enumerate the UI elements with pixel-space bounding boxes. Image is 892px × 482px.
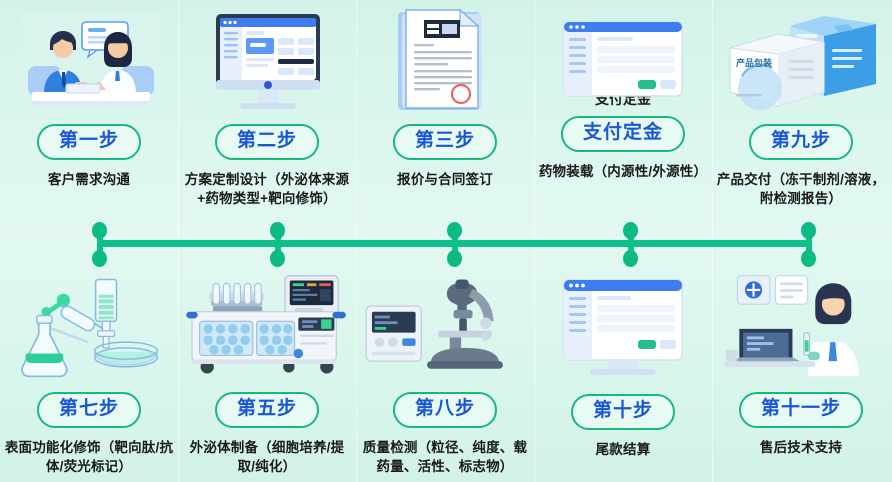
step-description: 方案定制设计（外泌体来源+药物类型+靶向修饰） [181, 170, 353, 208]
bioreactor-instrument-illustration [178, 270, 356, 388]
timeline-stem [275, 232, 281, 258]
timeline-node-bottom-5[interactable] [801, 250, 816, 267]
top-step-3[interactable]: 第三步 报价与合同签订 [356, 4, 534, 189]
timeline-stem [806, 232, 812, 258]
step-description: 尾款结算 [537, 440, 709, 459]
top-step-4[interactable]: 支付定金 支付定金 药物装载（内源性/外源性） [534, 4, 712, 181]
timeline-node-bottom-3[interactable] [447, 250, 462, 267]
scientist-support-illustration [712, 270, 890, 388]
step-badge[interactable]: 第三步 [393, 124, 497, 160]
step-description: 报价与合同签订 [359, 170, 531, 189]
step-description: 质量检测（粒径、纯度、载药量、活性、标志物） [359, 438, 531, 476]
step-badge[interactable]: 第八步 [393, 392, 497, 428]
flask-distillation-illustration [0, 270, 178, 388]
step-badge[interactable]: 第七步 [37, 392, 141, 428]
timeline-node-top-4[interactable] [623, 222, 638, 239]
top-step-5[interactable]: 产品包装 第九步 产品交付（冻干制剂/溶液，附检测报告） [712, 4, 890, 208]
browser-form-illustration [534, 4, 712, 86]
microscope-illustration [356, 270, 534, 388]
timeline-stem [97, 232, 103, 258]
step-description: 药物装载（内源性/外源性） [537, 162, 709, 181]
step-badge[interactable]: 第二步 [215, 124, 319, 160]
svg-text:产品包装: 产品包装 [736, 57, 773, 68]
product-packaging-illustration: 产品包装 [712, 4, 890, 116]
step-badge[interactable]: 第九步 [749, 124, 853, 160]
timeline-node-bottom-2[interactable] [270, 250, 285, 267]
step-badge[interactable]: 支付定金 [561, 116, 685, 152]
timeline-node-bottom-4[interactable] [623, 250, 638, 267]
step-description: 表面功能化修饰（靶向肽/抗体/荧光标记） [3, 438, 175, 476]
top-step-1[interactable]: 第一步 客户需求沟通 [0, 4, 178, 189]
bottom-step-3[interactable]: 第八步 质量检测（粒径、纯度、载药量、活性、标志物） [356, 270, 534, 476]
bottom-step-2[interactable]: 第五步 外泌体制备（细胞培养/提取/纯化） [178, 270, 356, 476]
timeline-node-top-3[interactable] [447, 222, 462, 239]
browser-billing-illustration [534, 272, 712, 384]
desktop-dashboard-illustration [178, 4, 356, 116]
step-badge[interactable]: 第一步 [37, 124, 141, 160]
step-badge[interactable]: 第五步 [215, 392, 319, 428]
timeline-node-top-5[interactable] [801, 222, 816, 239]
timeline-node-top-2[interactable] [270, 222, 285, 239]
step-description: 外泌体制备（细胞培养/提取/纯化） [181, 438, 353, 476]
step-description: 售后技术支持 [715, 438, 887, 457]
timeline-node-top-1[interactable] [92, 222, 107, 239]
timeline-node-bottom-1[interactable] [92, 250, 107, 267]
contract-document-illustration [356, 4, 534, 116]
step-description: 客户需求沟通 [3, 170, 175, 189]
bottom-step-1[interactable]: 第七步 表面功能化修饰（靶向肽/抗体/荧光标记） [0, 270, 178, 476]
timeline-stem [452, 232, 458, 258]
bottom-step-5[interactable]: 第十一步 售后技术支持 [712, 270, 890, 457]
step-badge[interactable]: 第十步 [571, 394, 675, 430]
infographic-canvas: 第一步 客户需求沟通 [0, 0, 892, 482]
step-description: 产品交付（冻干制剂/溶液，附检测报告） [715, 170, 887, 208]
step-badge[interactable]: 第十一步 [739, 392, 863, 428]
client-consultation-illustration [0, 4, 178, 116]
bottom-step-4[interactable]: 第十步 尾款结算 [534, 272, 712, 459]
timeline-bar [100, 240, 809, 247]
top-step-2[interactable]: 第二步 方案定制设计（外泌体来源+药物类型+靶向修饰） [178, 4, 356, 208]
timeline-stem [628, 232, 634, 258]
